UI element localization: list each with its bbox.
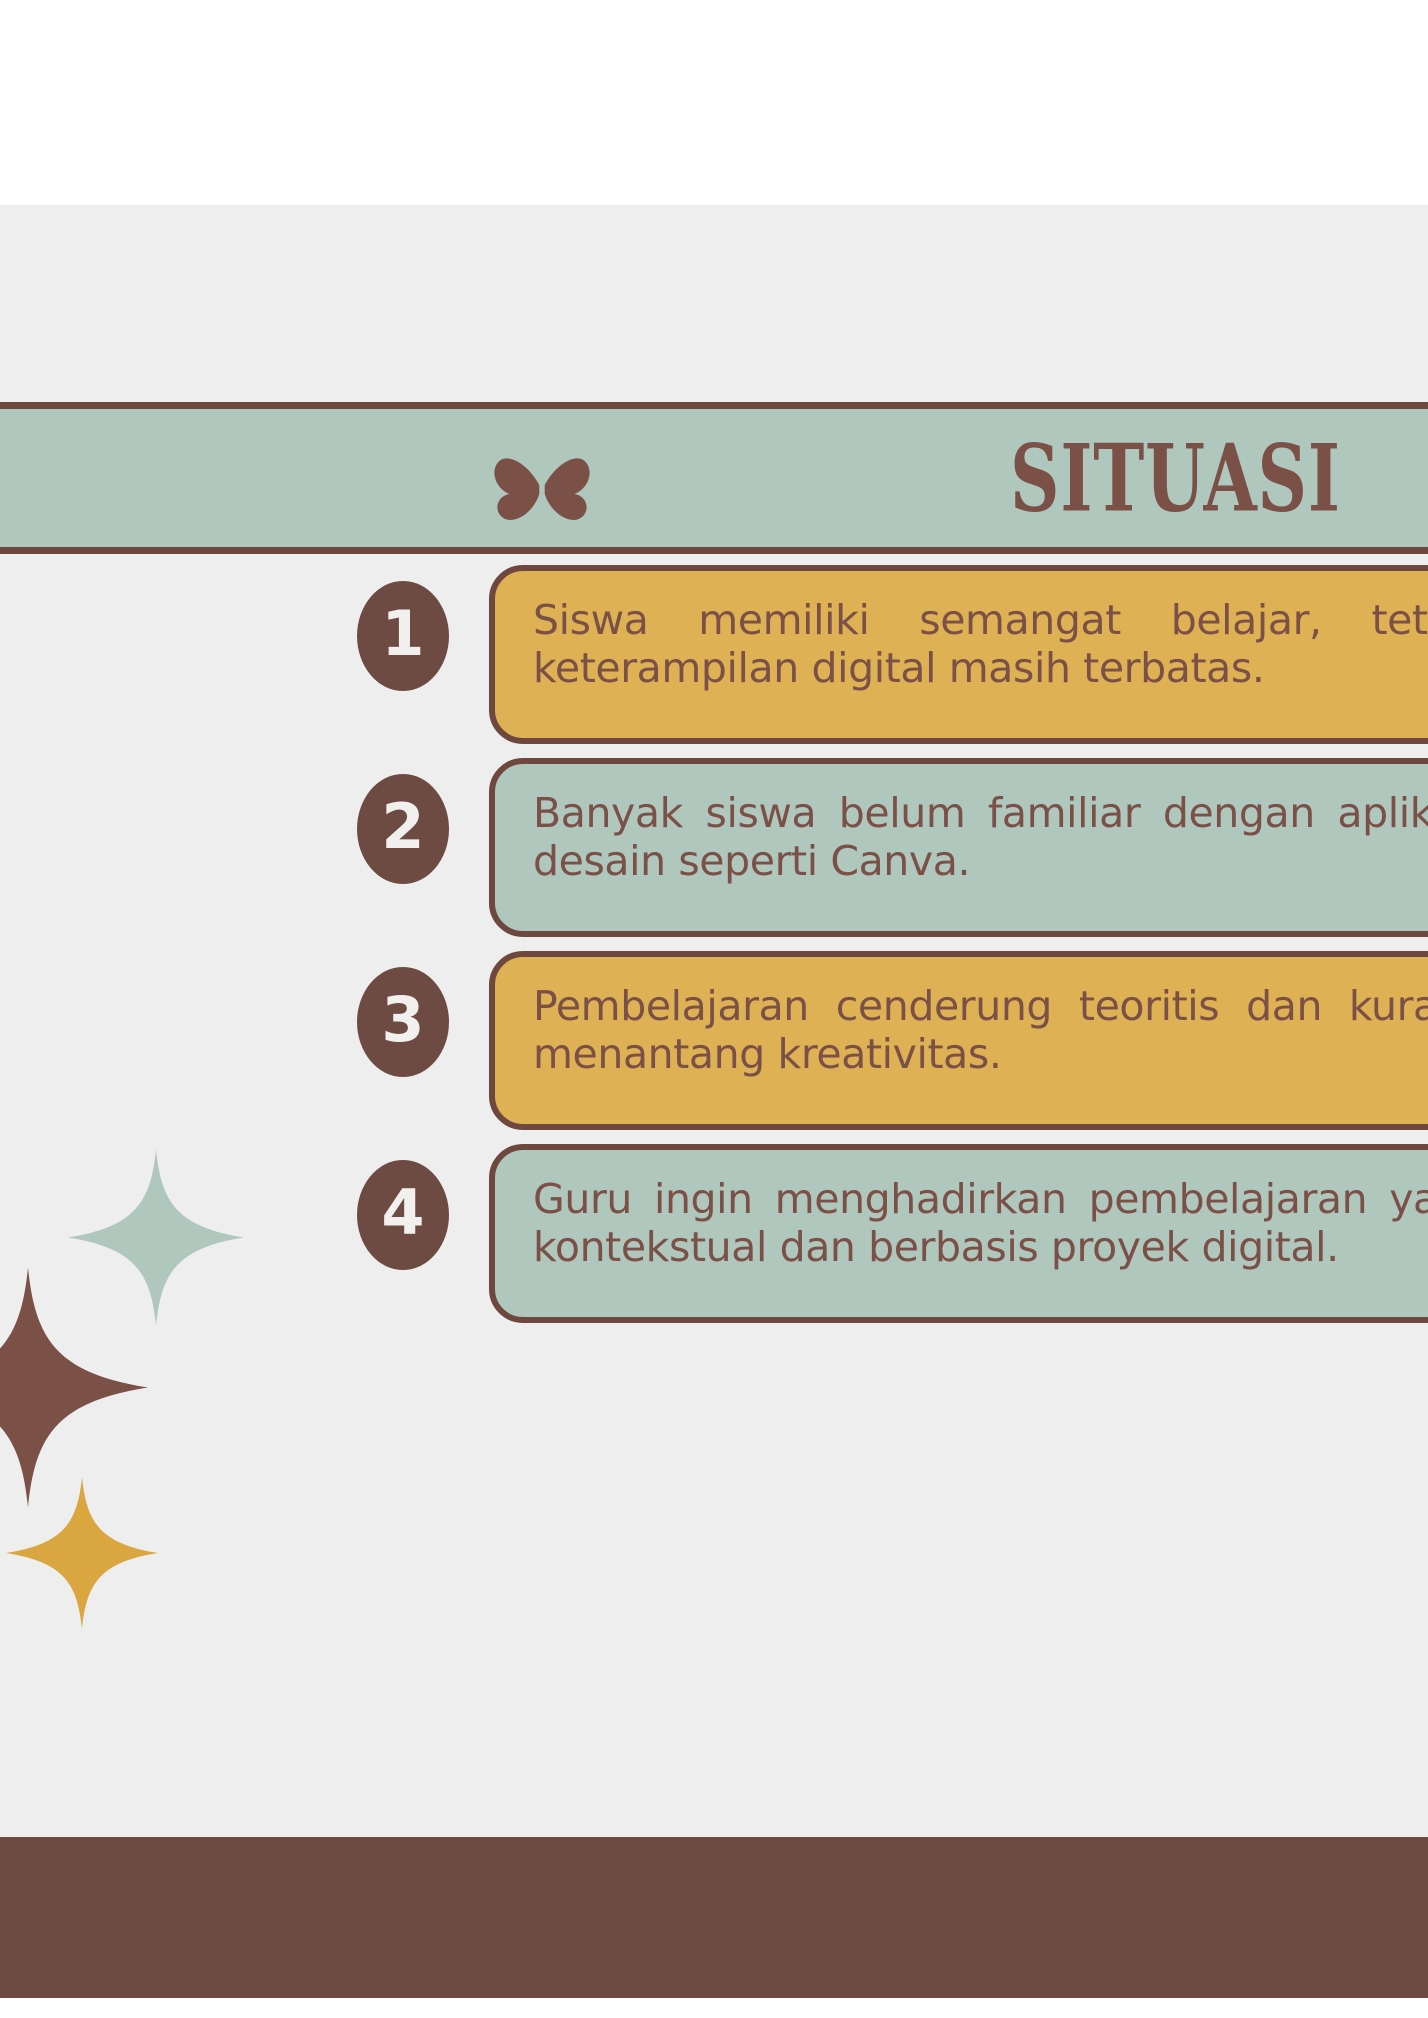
item-card[interactable]: Banyak siswa belum familiar dengan aplik… [489, 758, 1428, 937]
item-text: Siswa memiliki semangat belajar, tetapi … [533, 597, 1428, 693]
item-card[interactable]: Siswa memiliki semangat belajar, tetapi … [489, 565, 1428, 744]
item-text: Guru ingin menghadirkan pembelajaran yan… [533, 1176, 1428, 1272]
item-text: Pembelajaran cenderung teoritis dan kura… [533, 983, 1428, 1079]
item-card[interactable]: Pembelajaran cenderung teoritis dan kura… [489, 951, 1428, 1130]
item-text: Banyak siswa belum familiar dengan aplik… [533, 790, 1428, 886]
list-item: 1 Siswa memiliki semangat belajar, tetap… [0, 565, 1428, 758]
item-number-badge: 2 [357, 774, 449, 884]
list-item: 4 Guru ingin menghadirkan pembelajaran y… [0, 1144, 1428, 1337]
item-number-badge: 3 [357, 967, 449, 1077]
list-item: 3 Pembelajaran cenderung teoritis dan ku… [0, 951, 1428, 1144]
footer-bar [0, 1837, 1428, 1998]
item-number-badge: 1 [357, 581, 449, 691]
situation-list: 1 Siswa memiliki semangat belajar, tetap… [0, 565, 1428, 1337]
page-title: SITUASI [1010, 424, 1341, 533]
sparkle-gold-icon [6, 1463, 158, 1643]
list-item: 2 Banyak siswa belum familiar dengan apl… [0, 758, 1428, 951]
slide-canvas: SITUASI 1 Siswa memiliki semangat belaja… [0, 205, 1428, 1998]
section-header: SITUASI [0, 402, 1428, 554]
item-card[interactable]: Guru ingin menghadirkan pembelajaran yan… [489, 1144, 1428, 1323]
item-number-badge: 4 [357, 1160, 449, 1270]
butterfly-icon [488, 449, 596, 521]
